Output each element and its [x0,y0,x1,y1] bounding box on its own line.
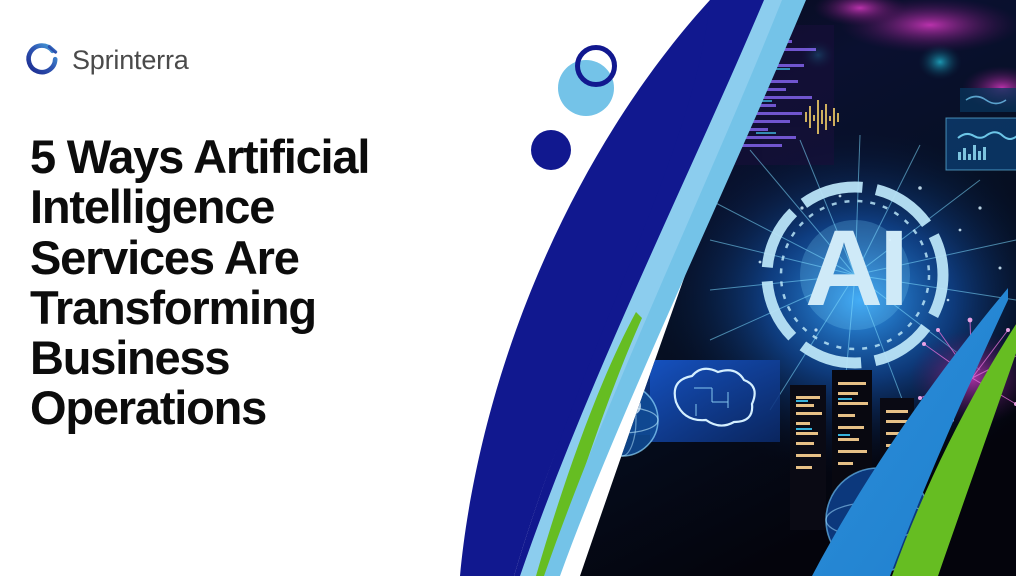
digital-brain-tile [650,360,780,442]
blog-header-banner: Sprinterra 5 Ways Artificial Intelligenc… [0,0,1024,576]
artwork-canvas: AI [460,0,1024,576]
world-map-panel [946,118,1024,170]
brand-name: Sprinterra [72,47,189,74]
sprinterra-ring-logo-icon [22,40,62,80]
ai-badge-label: AI [805,207,905,328]
brand-logo[interactable]: Sprinterra [22,40,189,80]
ai-technology-collage: AI [460,0,1024,576]
right-white-margin [1016,0,1024,576]
hud-panel-small [960,88,1024,112]
page-title: 5 Ways Artificial Intelligence Services … [30,132,460,434]
